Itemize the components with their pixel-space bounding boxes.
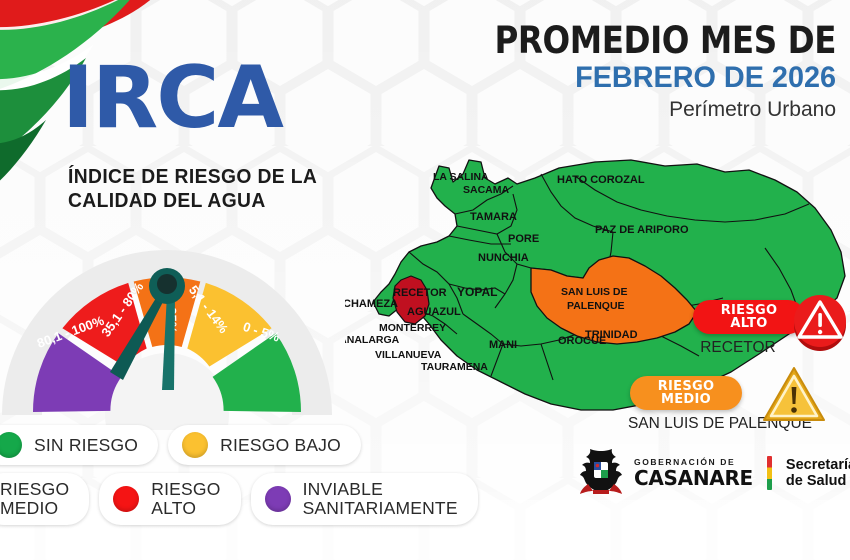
map-label-recetor: RECETOR — [393, 287, 447, 299]
legend-label-inviable-sanitariamente: INVIABLE SANITARIAMENTE — [303, 480, 458, 518]
map-label-hato-corozal: HATO COROZAL — [557, 174, 645, 186]
secretaria-de-salud-label: Secretaría de Salud — [786, 457, 850, 489]
map-label-palenque: PALENQUE — [567, 300, 625, 312]
warning-triangle-icon — [761, 364, 827, 426]
legend-dot-inviable-sanitariamente — [265, 486, 291, 512]
map-label-pore: PORE — [508, 233, 539, 245]
map-label-trinidad: TRINIDAD — [585, 329, 638, 341]
legend-dot-riesgo-alto — [113, 486, 139, 512]
header-line-promedio: PROMEDIO MES DE — [466, 22, 836, 59]
legend-label-sin-riesgo: SIN RIESGO — [34, 436, 138, 455]
legend-label-riesgo-bajo: RIESGO BAJO — [220, 436, 341, 455]
legend-item-riesgo-bajo[interactable]: RIESGO BAJO — [168, 425, 361, 465]
legend-row-2: RIESGO MEDIO RIESGO ALTO INVIABLE SANITA… — [0, 473, 462, 525]
map-label-villanueva: VILLANUEVA — [375, 349, 442, 361]
irca-acronym: IRCA — [62, 58, 282, 140]
map-label-tauramena: TAURAMENA — [421, 361, 488, 373]
warning-triangle-icon — [788, 289, 850, 353]
legend-dot-sin-riesgo — [0, 432, 22, 458]
map-label-tamara: TAMARA — [470, 211, 517, 223]
map-label-san-luis-de: SAN LUIS DE — [561, 286, 628, 298]
logo-divider — [767, 456, 772, 490]
badge-riesgo-alto[interactable]: RIESGO ALTO RECETOR — [645, 300, 850, 357]
badge-riesgo-medio-pill: RIESGO MEDIO — [630, 376, 742, 410]
map-label-nunchia: NUNCHIA — [478, 252, 529, 264]
legend-item-riesgo-medio[interactable]: RIESGO MEDIO — [0, 473, 89, 525]
map-label-paz-de-ariporo: PAZ DE ARIPORO — [595, 224, 689, 236]
legend-dot-riesgo-bajo — [182, 432, 208, 458]
legend-item-sin-riesgo[interactable]: SIN RIESGO — [0, 425, 158, 465]
map-label-mani: MANI — [489, 339, 517, 351]
map-label-sacama: SACAMA — [463, 184, 509, 196]
badge-riesgo-medio-label: RIESGO MEDIO — [658, 380, 715, 406]
risk-legend: SIN RIESGO RIESGO BAJO RIESGO MEDIO RIES… — [0, 425, 462, 533]
infographic-canvas: IRCA ÍNDICE DE RIESGO DE LA CALIDAD DEL … — [0, 0, 850, 560]
map-label-aguazul: AGUAZUL — [407, 306, 461, 318]
gobernacion-text: GOBERNACIÓN DE CASANARE — [634, 458, 753, 488]
badge-riesgo-alto-label: RIESGO ALTO — [721, 304, 778, 330]
casanare-coat-of-arms-icon — [578, 448, 624, 498]
badge-riesgo-medio[interactable]: RIESGO MEDIO SAN LUIS DE PALENQUE — [620, 376, 845, 433]
legend-item-inviable-sanitariamente[interactable]: INVIABLE SANITARIAMENTE — [251, 473, 478, 525]
header-line-scope: Perímetro Urbano — [416, 97, 836, 122]
map-label-la-salina: LA SALINA — [433, 171, 489, 183]
map-label-chameza: CHAMEZA — [345, 298, 398, 310]
header-line-month-year: FEBRERO DE 2026 — [433, 60, 836, 95]
map-label-monterrey: MONTERREY — [379, 322, 446, 334]
map-label-sabanalarga: SABANALARGA — [345, 334, 400, 346]
legend-item-riesgo-alto[interactable]: RIESGO ALTO — [99, 473, 240, 525]
irca-risk-gauge: 0 - 5% 5,1 - 14% 14,1 - 35% 35,1 - 80% 8… — [0, 230, 342, 430]
gobernacion-casanare-label: CASANARE — [634, 468, 753, 488]
gobernacion-logo-block: GOBERNACIÓN DE CASANARE Secretaría de Sa… — [578, 448, 850, 498]
badge-riesgo-alto-caption: RECETOR — [673, 339, 803, 357]
map-label-yopal: YOPAL — [457, 285, 497, 299]
report-header: PROMEDIO MES DE FEBRERO DE 2026 Perímetr… — [416, 22, 836, 123]
legend-label-riesgo-alto: RIESGO ALTO — [151, 480, 220, 518]
legend-label-riesgo-medio: RIESGO MEDIO — [0, 480, 69, 518]
